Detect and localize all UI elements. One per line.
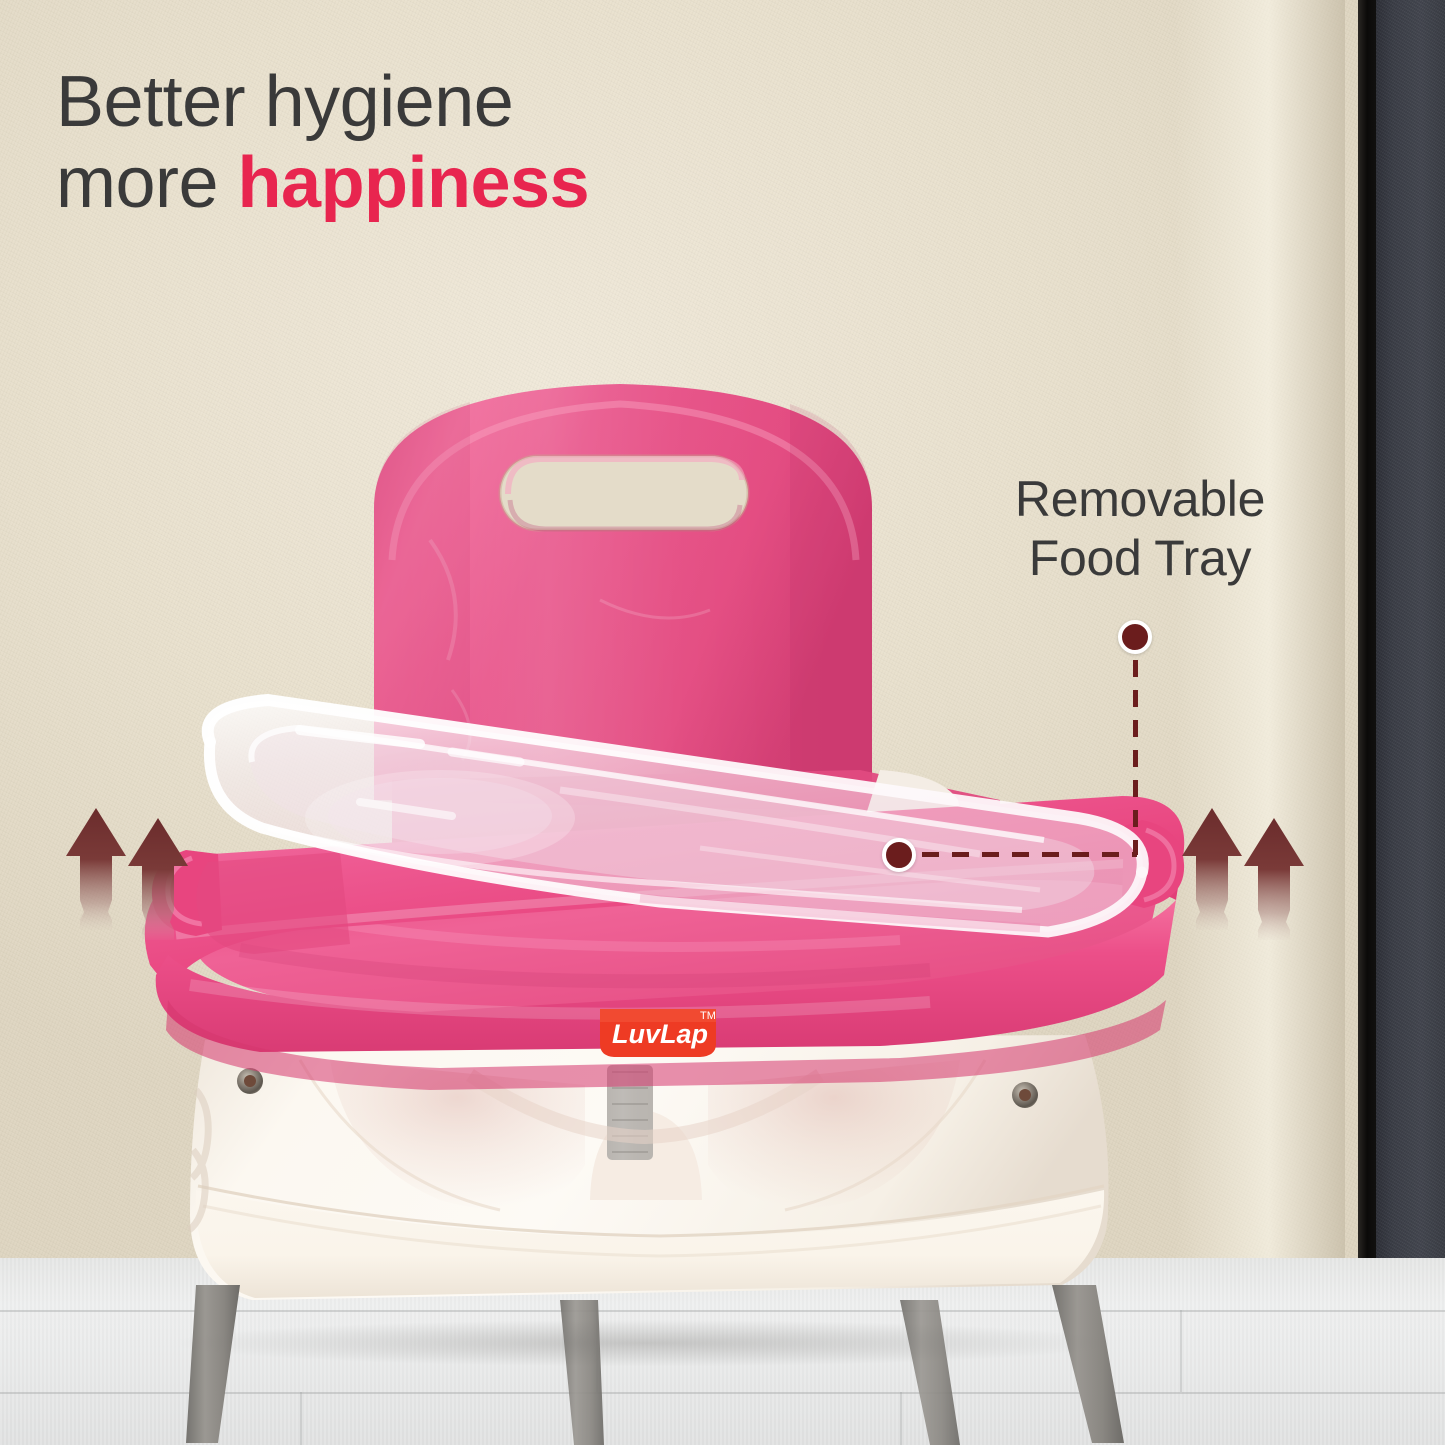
height-adjust-arrow-left-1	[66, 808, 126, 930]
backrest-handle-cutout	[500, 456, 748, 530]
callout-label-line-1: Removable	[940, 470, 1340, 529]
callout-label-line-2: Food Tray	[940, 529, 1340, 588]
callout-label: Removable Food Tray	[940, 470, 1340, 587]
product-illustration: LuvLap TM	[0, 0, 1445, 1445]
product-marketing-image: Better hygiene more happiness	[0, 0, 1445, 1445]
callout-connector-vertical	[1133, 660, 1138, 855]
brand-logo-text: LuvLap	[612, 1019, 708, 1049]
screw-fitting-right	[1012, 1082, 1038, 1108]
chair-floor-shadow	[180, 1320, 1110, 1366]
callout-dot-tray	[882, 838, 916, 872]
callout-dot-top	[1118, 620, 1152, 654]
brand-logo: LuvLap TM	[600, 1009, 716, 1057]
height-adjust-arrow-right-1	[1182, 808, 1242, 930]
height-adjust-arrow-right-2	[1244, 818, 1304, 940]
brand-trademark-symbol: TM	[700, 1010, 716, 1022]
callout-connector-horizontal	[922, 852, 1137, 857]
screw-fitting-left	[237, 1068, 263, 1094]
